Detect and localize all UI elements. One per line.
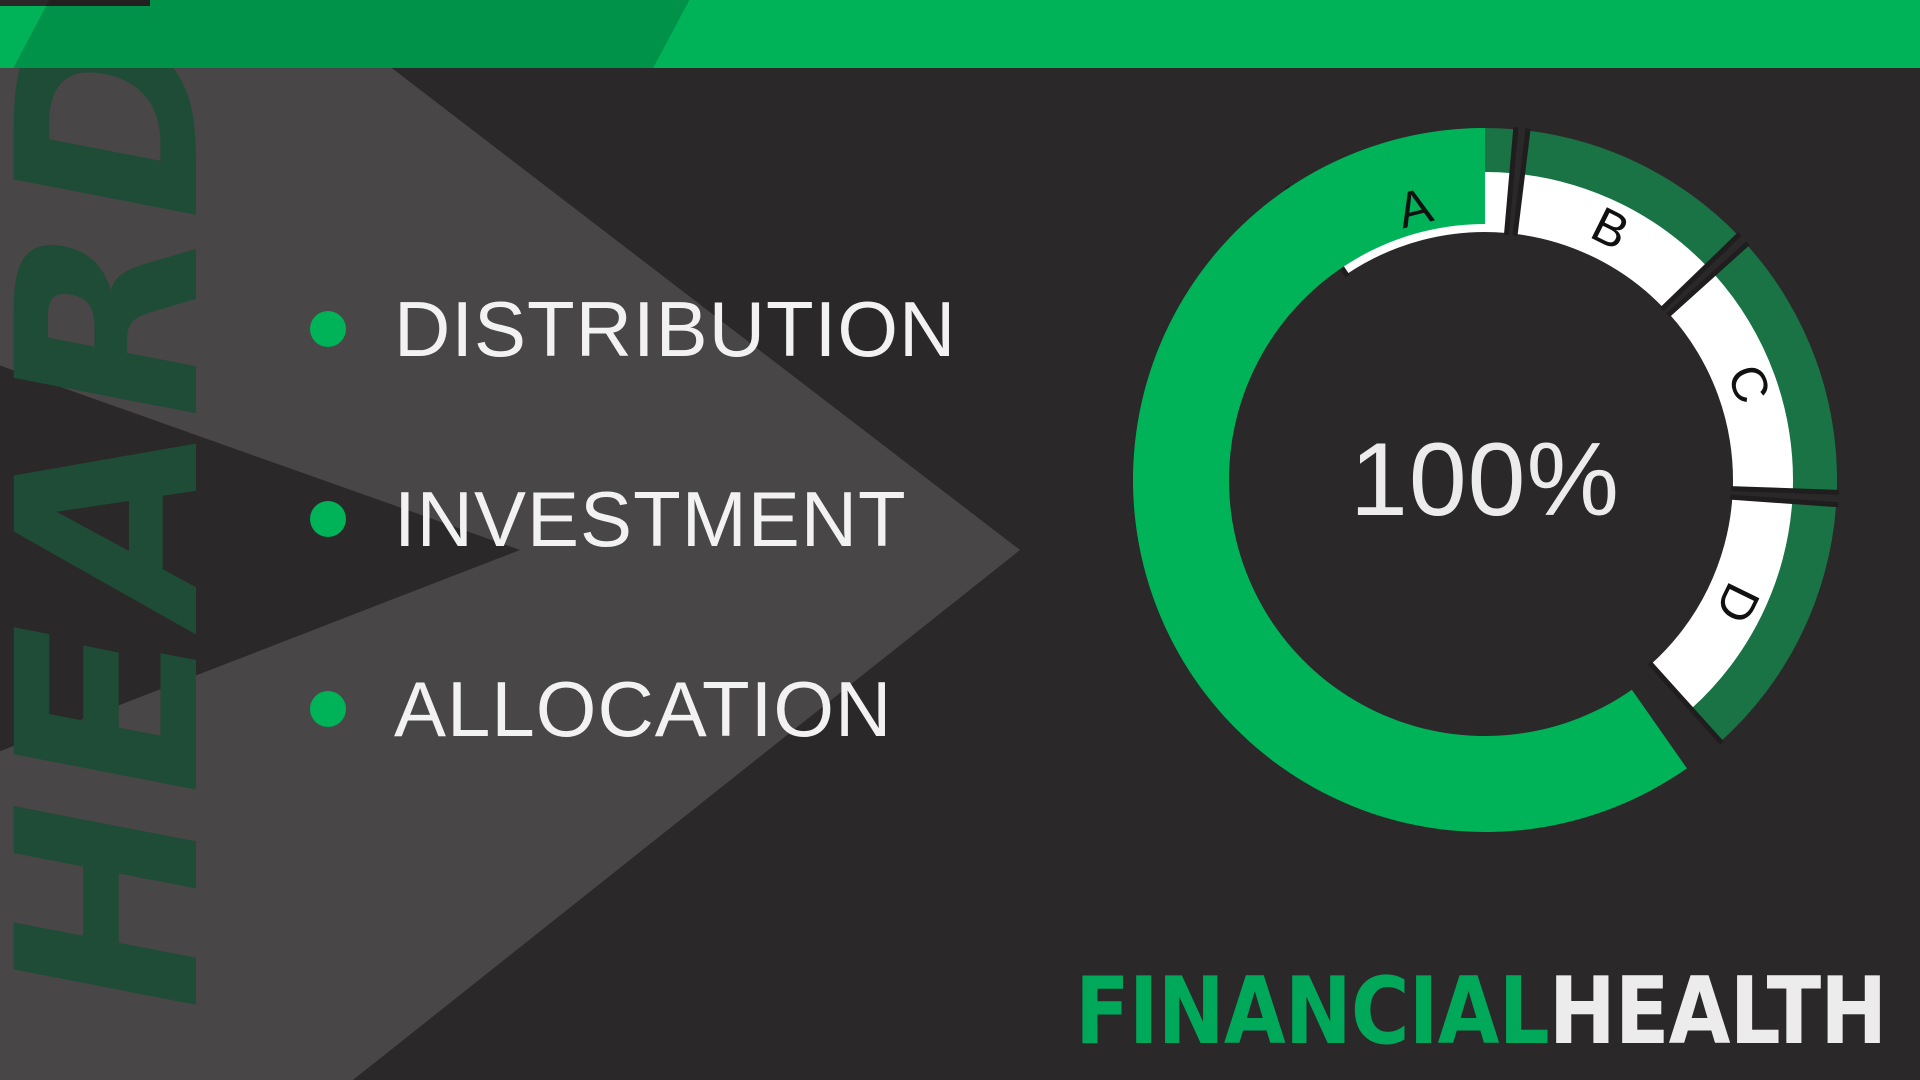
wordmark-health: HEALTH [1548, 957, 1886, 1065]
list-item[interactable]: INVESTMENT [310, 480, 956, 558]
list-item-label: ALLOCATION [394, 670, 892, 748]
topbar-diagonal-shade [0, 0, 700, 68]
heard-watermark: HEARD [0, 56, 210, 1080]
list-item[interactable]: DISTRIBUTION [310, 290, 956, 368]
donut-chart-svg: ABCD [1125, 120, 1845, 840]
slide-canvas: HEARD DISTRIBUTION INVESTMENT ALLOCATION… [0, 0, 1920, 1080]
list-item[interactable]: ALLOCATION [310, 670, 956, 748]
top-accent-bar [0, 0, 1920, 68]
list-item-label: DISTRIBUTION [394, 290, 956, 368]
heard-watermark-text: HEARD [0, 107, 210, 1036]
brand-wordmark: FINANCIALHEALTH [1075, 965, 1886, 1058]
list-item-label: INVESTMENT [394, 480, 907, 558]
bullet-dot-icon [310, 501, 346, 537]
donut-chart[interactable]: ABCD 100% [1125, 120, 1845, 840]
wordmark-financial: FINANCIAL [1075, 957, 1549, 1065]
bullet-dot-icon [310, 311, 346, 347]
bullet-dot-icon [310, 691, 346, 727]
feature-list: DISTRIBUTION INVESTMENT ALLOCATION [310, 290, 956, 748]
